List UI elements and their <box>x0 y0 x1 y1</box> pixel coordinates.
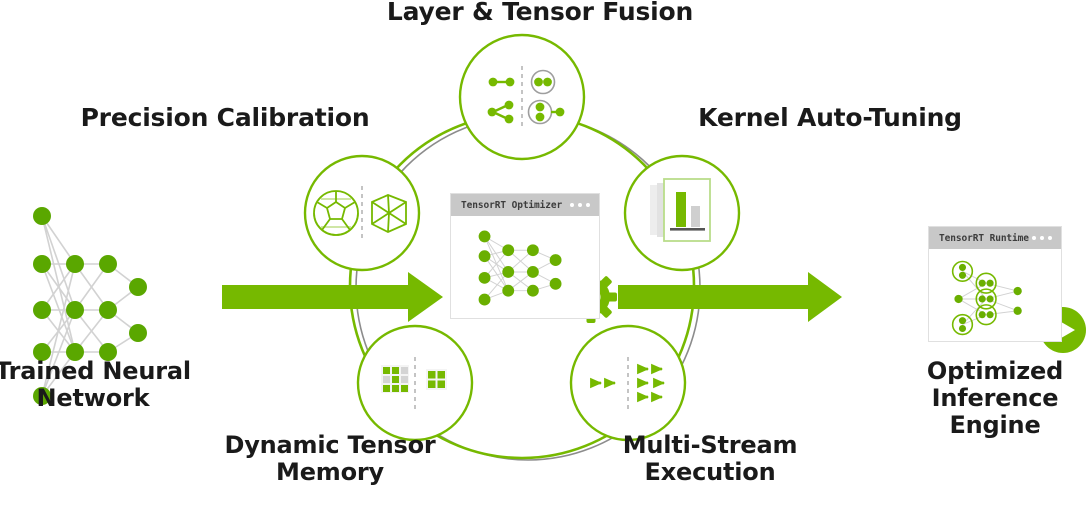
label-optimized-inference-engine: Optimized Inference Engine <box>900 358 1090 439</box>
label-trained-neural-network: Trained Neural Network <box>0 358 248 412</box>
label-kernel-auto-tuning: Kernel Auto-Tuning <box>660 104 1000 132</box>
optimizer-window-body <box>451 216 599 320</box>
label-dynamic-tensor-memory: Dynamic Tensor Memory <box>165 432 495 486</box>
icon-node-precision-calibration[interactable] <box>305 156 419 270</box>
flow-arrow-left-icon <box>222 272 443 322</box>
icon-node-multi-stream-execution[interactable] <box>571 326 685 440</box>
icon-node-layer-tensor-fusion[interactable] <box>460 35 584 159</box>
optimizer-titlebar: TensorRT Optimizer <box>451 194 599 216</box>
label-multi-stream-execution: Multi-Stream Execution <box>545 432 875 486</box>
memory-grid-after-icon <box>426 369 447 390</box>
runtime-window-title: TensorRT Runtime <box>939 233 1029 244</box>
runtime-titlebar: TensorRT Runtime <box>929 227 1061 249</box>
diagram-canvas: TensorRT Optimizer <box>0 0 1090 526</box>
runtime-window-body <box>929 249 1061 343</box>
icon-node-dynamic-tensor-memory[interactable] <box>358 326 472 440</box>
optimizer-window-dots <box>570 203 590 207</box>
icon-node-kernel-auto-tuning[interactable] <box>625 156 739 270</box>
tensorrt-optimizer-window[interactable]: TensorRT Optimizer <box>450 193 600 319</box>
optimizer-window-title: TensorRT Optimizer <box>461 200 562 211</box>
optimizer-network-graphic <box>451 216 599 320</box>
label-precision-calibration: Precision Calibration <box>55 104 395 132</box>
runtime-fused-network-graphic <box>929 249 1061 343</box>
runtime-window-dots <box>1032 236 1052 240</box>
flow-arrow-right-icon <box>618 272 842 322</box>
label-layer-tensor-fusion: Layer & Tensor Fusion <box>330 0 750 26</box>
tensorrt-runtime-window[interactable]: TensorRT Runtime <box>928 226 1062 342</box>
memory-grid-before-icon <box>381 365 409 393</box>
